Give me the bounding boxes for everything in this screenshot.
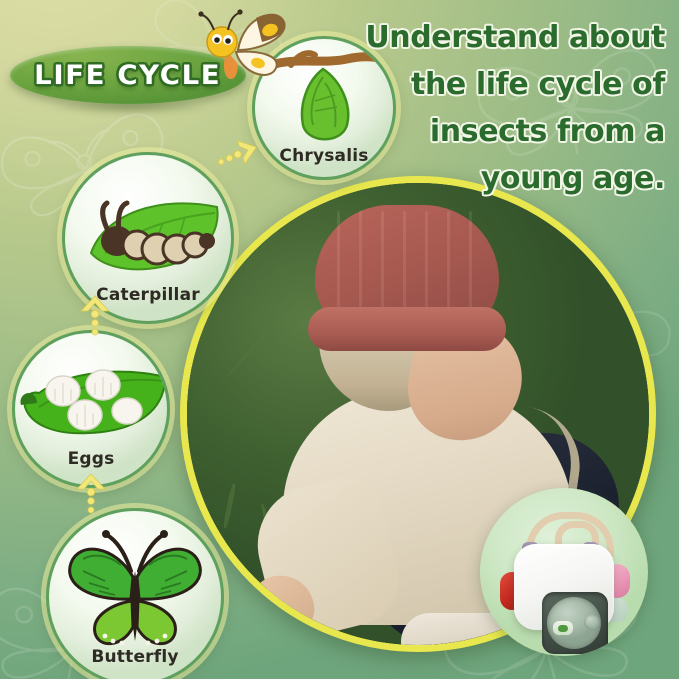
headline-line-4: young age. (345, 155, 665, 202)
arrow-butterfly-to-eggs (74, 470, 108, 514)
kids-projector-toy[interactable] (502, 510, 626, 634)
cartoon-butterfly-mascot-icon (192, 6, 296, 90)
product-bubble (480, 488, 648, 656)
toy-logo-icon (553, 621, 573, 635)
headline: Understand about the life cycle of insec… (345, 14, 665, 202)
life-cycle-infographic: LIFE CYCLE (0, 0, 679, 679)
arrow-eggs-to-caterpillar (78, 292, 112, 336)
toy-body (514, 544, 614, 630)
arrow-caterpillar-to-chrysalis (216, 140, 262, 170)
stage-eggs[interactable]: Eggs (12, 330, 170, 488)
child-beanie (315, 205, 499, 337)
stage-butterfly-label: Butterfly (91, 647, 178, 667)
stage-eggs-label: Eggs (68, 449, 115, 469)
headline-line-3: insects from a (345, 108, 665, 155)
stage-butterfly[interactable]: Butterfly (46, 508, 224, 679)
headline-line-2: the life cycle of (345, 61, 665, 108)
toy-shutter-button[interactable] (584, 614, 600, 630)
headline-line-1: Understand about (345, 14, 665, 61)
toy-screen (542, 592, 608, 654)
stage-chrysalis-label: Chrysalis (279, 146, 368, 166)
